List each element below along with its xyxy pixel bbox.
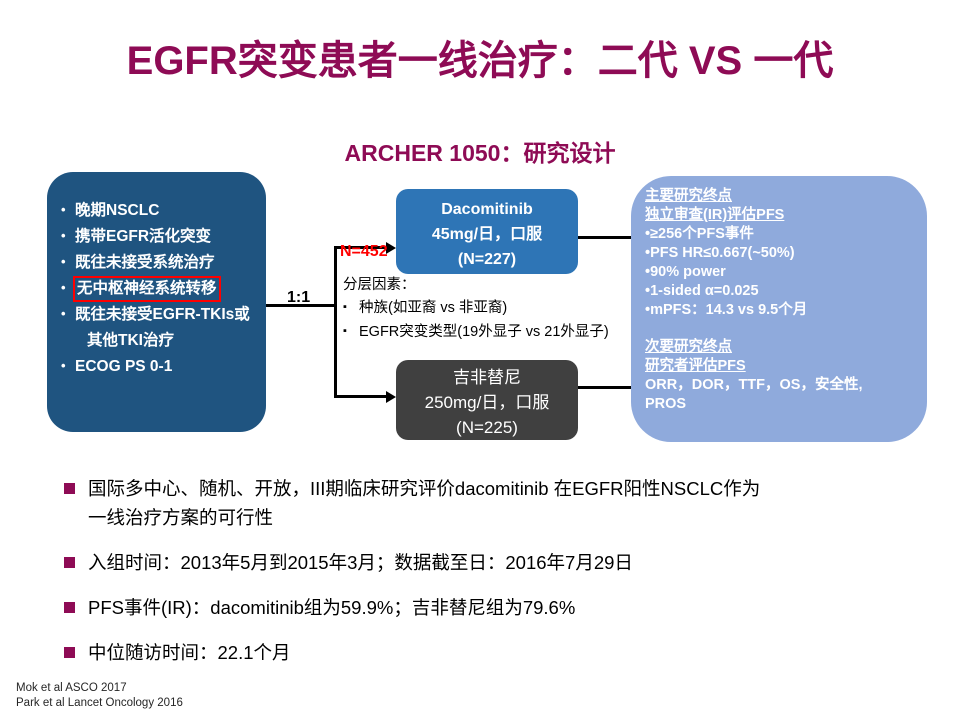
connector-line-split [334,246,337,398]
criteria-item: 携带EGFR活化突变 [61,224,256,250]
bullet-text-line1: 中位随访时间：22.1个月 [88,642,291,663]
criteria-item-highlighted: 无中枢神经系统转移 [61,276,256,302]
study-design-subtitle: ARCHER 1050：研究设计 [0,134,960,168]
stratification-item: EGFR突变类型(19外显子 vs 21外显子) [343,320,618,344]
connector-line-dacomitinib-to-endpoints [578,236,638,239]
primary-endpoint-heading: 主要研究终点 [645,187,919,206]
primary-endpoint-detail: •≥256个PFS事件 [645,225,919,244]
criteria-item-continuation: 其他TKI治疗 [61,328,256,354]
secondary-endpoint-detail: PROS [645,395,919,414]
criteria-item-label: 既往未接受EGFR-TKIs或 [75,306,250,323]
secondary-endpoint-subheading: 研究者评估PFS [645,357,919,376]
list-item: 国际多中心、随机、开放，III期临床研究评价dacomitinib 在EGFR阳… [62,474,922,532]
summary-bullet-list: 国际多中心、随机、开放，III期临床研究评价dacomitinib 在EGFR阳… [62,474,922,683]
stratification-item-label: 种族(如亚裔 vs 非亚裔) [359,300,507,316]
primary-endpoint-detail: •mPFS：14.3 vs 9.5个月 [645,301,919,320]
stratification-item-label: EGFR突变类型(19外显子 vs 21外显子) [359,324,609,340]
secondary-endpoint-heading: 次要研究终点 [645,338,919,357]
list-item: PFS事件(IR)：dacomitinib组为59.9%；吉非替尼组为79.6% [62,593,922,622]
secondary-endpoint-detail: ORR，DOR，TTF，OS，安全性, [645,376,919,395]
primary-endpoint-detail: •90% power [645,263,919,282]
connector-line-gefitinib-to-endpoints [578,386,638,389]
bullet-text-line1: 国际多中心、随机、开放，III期临床研究评价dacomitinib 在EGFR阳… [88,478,760,499]
gefitinib-arm-box: 吉非替尼 250mg/日，口服 (N=225) [396,360,578,440]
stratification-title: 分层因素： [343,274,618,296]
bullet-text-line1: 入组时间：2013年5月到2015年3月；数据截至日：2016年7月29日 [88,552,633,573]
arrow-head-icon [386,391,396,403]
criteria-item: 晚期NSCLC [61,198,256,224]
criteria-item-label: ECOG PS 0-1 [75,358,172,375]
page-title: EGFR突变患者一线治疗：二代 VS 一代 [0,28,960,86]
criteria-item-label: 携带EGFR活化突变 [75,228,211,245]
dacomitinib-name: Dacomitinib [396,197,578,222]
gefitinib-n: (N=225) [396,415,578,440]
primary-endpoint-detail: •PFS HR≤0.667(~50%) [645,244,919,263]
criteria-item: 既往未接受系统治疗 [61,250,256,276]
list-item: 中位随访时间：22.1个月 [62,638,922,667]
study-endpoints-box: 主要研究终点 独立审查(IR)评估PFS •≥256个PFS事件 •PFS HR… [631,176,927,442]
criteria-item: 既往未接受EGFR-TKIs或 [61,302,256,328]
criteria-item-label: 既往未接受系统治疗 [75,254,215,271]
randomization-ratio-label: 1:1 [287,289,310,307]
dacomitinib-dose: 45mg/日，口服 [396,222,578,247]
gefitinib-name: 吉非替尼 [396,365,578,390]
stratification-item: 种族(如亚裔 vs 非亚裔) [343,296,618,320]
primary-endpoint-subheading: 独立审查(IR)评估PFS [645,206,919,225]
bullet-text-line1: PFS事件(IR)：dacomitinib组为59.9%；吉非替尼组为79.6% [88,597,575,618]
dacomitinib-arm-box: Dacomitinib 45mg/日，口服 (N=227) [396,189,578,274]
endpoints-spacer [645,320,919,338]
list-item: 入组时间：2013年5月到2015年3月；数据截至日：2016年7月29日 [62,548,922,577]
stratification-block: 分层因素： 种族(如亚裔 vs 非亚裔) EGFR突变类型(19外显子 vs 2… [343,274,618,344]
criteria-item: ECOG PS 0-1 [61,354,256,380]
criteria-item-label: 无中枢神经系统转移 [75,278,219,300]
total-enrollment-label: N=452 [340,243,388,261]
criteria-item-label: 晚期NSCLC [75,202,159,219]
primary-endpoint-detail: •1-sided α=0.025 [645,282,919,301]
eligibility-criteria-box: 晚期NSCLC 携带EGFR活化突变 既往未接受系统治疗 无中枢神经系统转移 既… [47,172,266,432]
citation-line-1: Mok et al ASCO 2017 [16,681,183,696]
gefitinib-dose: 250mg/日，口服 [396,390,578,415]
bullet-text-line2: 一线治疗方案的可行性 [88,503,922,532]
connector-line-to-gefitinib [334,395,389,398]
criteria-item-label: 其他TKI治疗 [87,332,174,349]
citation-footer: Mok et al ASCO 2017 Park et al Lancet On… [16,681,183,711]
citation-line-2: Park et al Lancet Oncology 2016 [16,696,183,711]
dacomitinib-n: (N=227) [396,247,578,272]
